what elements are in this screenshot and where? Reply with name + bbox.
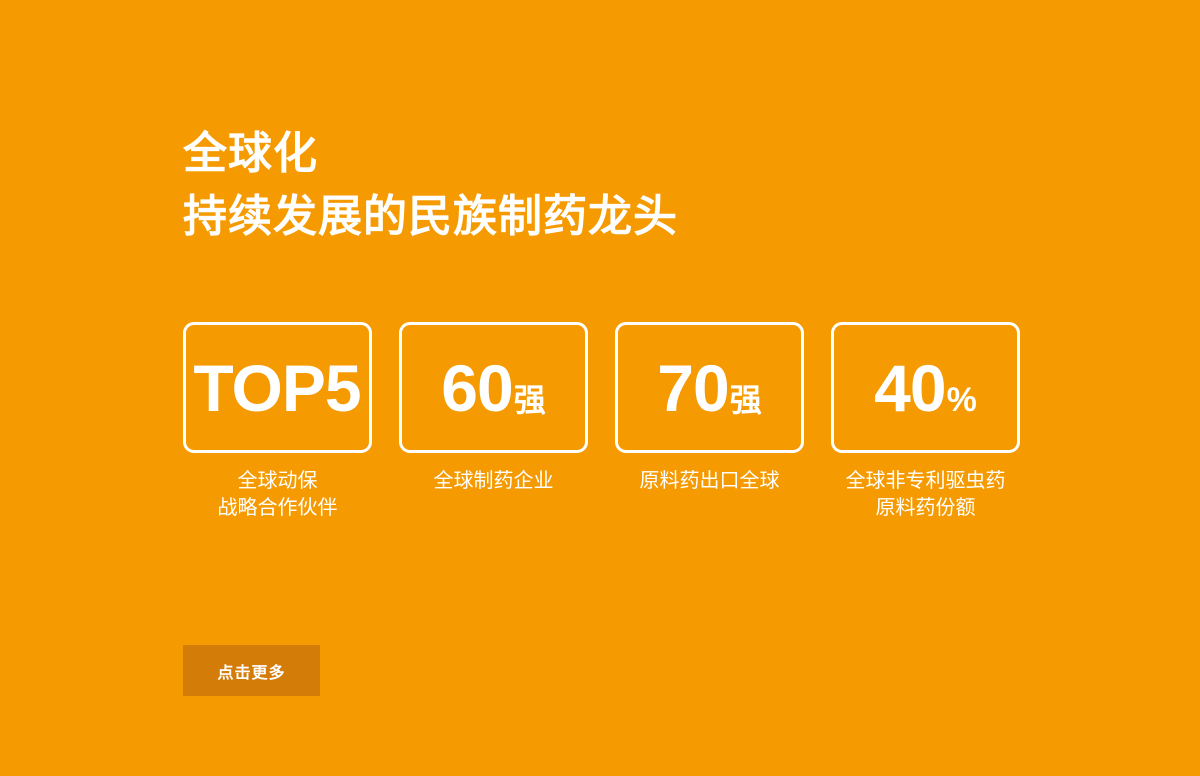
stat-caption-line-1: 原料药出口全球 <box>640 468 780 495</box>
stat-caption-line-1: 全球制药企业 <box>434 468 554 495</box>
stat-suffix: % <box>947 383 977 417</box>
stat-caption-70qiang: 原料药出口全球 <box>640 468 780 495</box>
stat-number: 40 <box>874 355 945 421</box>
stat-box-70qiang: 70 强 <box>615 322 804 453</box>
headline-line-1: 全球化 <box>183 122 678 185</box>
stat-number: 60 <box>441 355 512 421</box>
stat-caption-line-2: 原料药份额 <box>846 495 1006 522</box>
hero-section: 全球化 持续发展的民族制药龙头 TOP5 全球动保 战略合作伙伴 60 强 <box>0 0 1200 776</box>
stat-item-40pct: 40 % 全球非专利驱虫药 原料药份额 <box>831 322 1020 522</box>
stat-value-top5: TOP5 <box>193 355 361 421</box>
page-title: 全球化 持续发展的民族制药龙头 <box>183 122 678 248</box>
stat-item-top5: TOP5 全球动保 战略合作伙伴 <box>183 322 372 522</box>
stat-caption-line-2: 战略合作伙伴 <box>218 495 338 522</box>
headline-line-2: 持续发展的民族制药龙头 <box>183 185 678 248</box>
stat-caption-40pct: 全球非专利驱虫药 原料药份额 <box>846 468 1006 522</box>
stat-caption-60qiang: 全球制药企业 <box>434 468 554 495</box>
stat-number: TOP5 <box>193 355 360 421</box>
stats-row: TOP5 全球动保 战略合作伙伴 60 强 全球制药企业 <box>183 322 1020 522</box>
stat-value-40pct: 40 % <box>874 355 977 421</box>
click-more-button[interactable]: 点击更多 <box>183 645 320 696</box>
stat-caption-line-1: 全球动保 <box>218 468 338 495</box>
stat-suffix: 强 <box>514 384 546 416</box>
stat-caption-top5: 全球动保 战略合作伙伴 <box>218 468 338 522</box>
stat-item-60qiang: 60 强 全球制药企业 <box>399 322 588 495</box>
stat-box-top5: TOP5 <box>183 322 372 453</box>
stat-value-60qiang: 60 强 <box>441 355 545 421</box>
stat-box-40pct: 40 % <box>831 322 1020 453</box>
stat-value-70qiang: 70 强 <box>657 355 761 421</box>
stat-number: 70 <box>657 355 728 421</box>
stat-box-60qiang: 60 强 <box>399 322 588 453</box>
stat-suffix: 强 <box>730 384 762 416</box>
stat-item-70qiang: 70 强 原料药出口全球 <box>615 322 804 495</box>
stat-caption-line-1: 全球非专利驱虫药 <box>846 468 1006 495</box>
